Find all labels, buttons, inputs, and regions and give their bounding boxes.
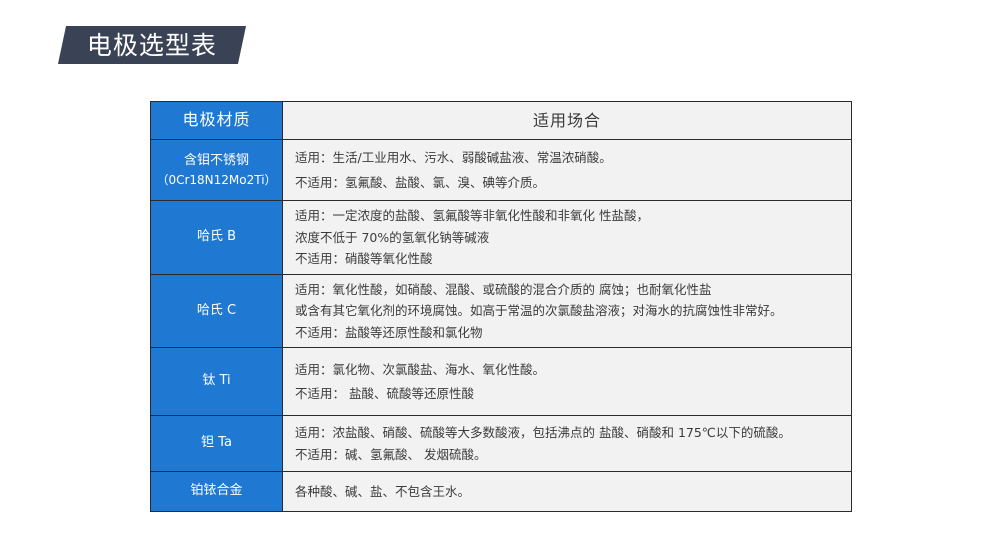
application-line: 不适用：盐酸等还原性酸和氯化物	[295, 322, 851, 344]
application-cell-hastelloy-c: 适用：氧化性酸，如硝酸、混酸、或硫酸的混合介质的 腐蚀；也耐氧化性盐 或含有其它…	[283, 274, 852, 348]
application-line: 不适用：硝酸等氧化性酸	[295, 248, 851, 270]
material-cell-hastelloy-c: 哈氏 C	[151, 274, 283, 348]
material-cell-platinum-iridium: 铂铱合金	[151, 472, 283, 512]
material-cell-stainless: 含钼不锈钢 （0Cr18N12Mo2Ti）	[151, 140, 283, 201]
application-line: 各种酸、碱、盐、不包含王水。	[295, 481, 851, 503]
application-cell-stainless: 适用：生活/工业用水、污水、弱酸碱盐液、常温浓硝酸。 不适用：氢氟酸、盐酸、氯、…	[283, 140, 852, 201]
application-cell-hastelloy-b: 适用：一定浓度的盐酸、氢氟酸等非氧化性酸和非氧化 性盐酸， 浓度不低于 70%的…	[283, 201, 852, 275]
application-line: 不适用：碱、氢氟酸、 发烟硫酸。	[295, 444, 851, 466]
page-title-banner: 电极选型表	[58, 26, 246, 64]
material-cell-tantalum: 钽 Ta	[151, 416, 283, 472]
header-cell-application: 适用场合	[283, 102, 852, 140]
electrode-selection-table: 电极材质 适用场合 含钼不锈钢 （0Cr18N12Mo2Ti） 适用：生活/工业…	[150, 101, 852, 512]
application-line: 或含有其它氧化剂的环境腐蚀。如高于常温的次氯酸盐溶液；对海水的抗腐蚀性非常好。	[295, 300, 851, 322]
table-row: 哈氏 C 适用：氧化性酸，如硝酸、混酸、或硫酸的混合介质的 腐蚀；也耐氧化性盐 …	[151, 274, 852, 348]
header-cell-material: 电极材质	[151, 102, 283, 140]
page-title: 电极选型表	[87, 33, 217, 58]
application-cell-tantalum: 适用：浓盐酸、硝酸、硫酸等大多数酸液，包括沸点的 盐酸、硝酸和 175℃以下的硫…	[283, 416, 852, 472]
table-row: 铂铱合金 各种酸、碱、盐、不包含王水。	[151, 472, 852, 512]
application-line: 不适用：氢氟酸、盐酸、氯、溴、碘等介质。	[295, 172, 851, 194]
application-line: 适用：生活/工业用水、污水、弱酸碱盐液、常温浓硝酸。	[295, 147, 851, 169]
header-label-application: 适用场合	[533, 111, 601, 130]
material-name: 铂铱合金	[153, 481, 280, 501]
application-line: 浓度不低于 70%的氢氧化钠等碱液	[295, 227, 851, 249]
material-name: 钛 Ti	[153, 371, 280, 391]
table-row: 钛 Ti 适用：氯化物、次氯酸盐、海水、氧化性酸。 不适用： 盐酸、硫酸等还原性…	[151, 348, 852, 416]
material-cell-hastelloy-b: 哈氏 B	[151, 201, 283, 275]
table-row: 含钼不锈钢 （0Cr18N12Mo2Ti） 适用：生活/工业用水、污水、弱酸碱盐…	[151, 140, 852, 201]
application-line: 适用：氧化性酸，如硝酸、混酸、或硫酸的混合介质的 腐蚀；也耐氧化性盐	[295, 279, 851, 301]
application-line: 不适用： 盐酸、硫酸等还原性酸	[295, 383, 851, 405]
application-cell-platinum-iridium: 各种酸、碱、盐、不包含王水。	[283, 472, 852, 512]
application-cell-titanium: 适用：氯化物、次氯酸盐、海水、氧化性酸。 不适用： 盐酸、硫酸等还原性酸	[283, 348, 852, 416]
header-label-material: 电极材质	[153, 108, 280, 133]
material-cell-titanium: 钛 Ti	[151, 348, 283, 416]
table-header-row: 电极材质 适用场合	[151, 102, 852, 140]
material-name: 哈氏 B	[153, 227, 280, 247]
table-row: 哈氏 B 适用：一定浓度的盐酸、氢氟酸等非氧化性酸和非氧化 性盐酸， 浓度不低于…	[151, 201, 852, 275]
material-name: 钽 Ta	[153, 433, 280, 453]
application-line: 适用：浓盐酸、硝酸、硫酸等大多数酸液，包括沸点的 盐酸、硝酸和 175℃以下的硫…	[295, 422, 851, 444]
material-code: （0Cr18N12Mo2Ti）	[153, 171, 280, 190]
application-line: 适用：氯化物、次氯酸盐、海水、氧化性酸。	[295, 359, 851, 381]
table-row: 钽 Ta 适用：浓盐酸、硝酸、硫酸等大多数酸液，包括沸点的 盐酸、硝酸和 175…	[151, 416, 852, 472]
material-name: 含钼不锈钢	[153, 151, 280, 171]
application-line: 适用：一定浓度的盐酸、氢氟酸等非氧化性酸和非氧化 性盐酸，	[295, 205, 851, 227]
material-name: 哈氏 C	[153, 301, 280, 321]
